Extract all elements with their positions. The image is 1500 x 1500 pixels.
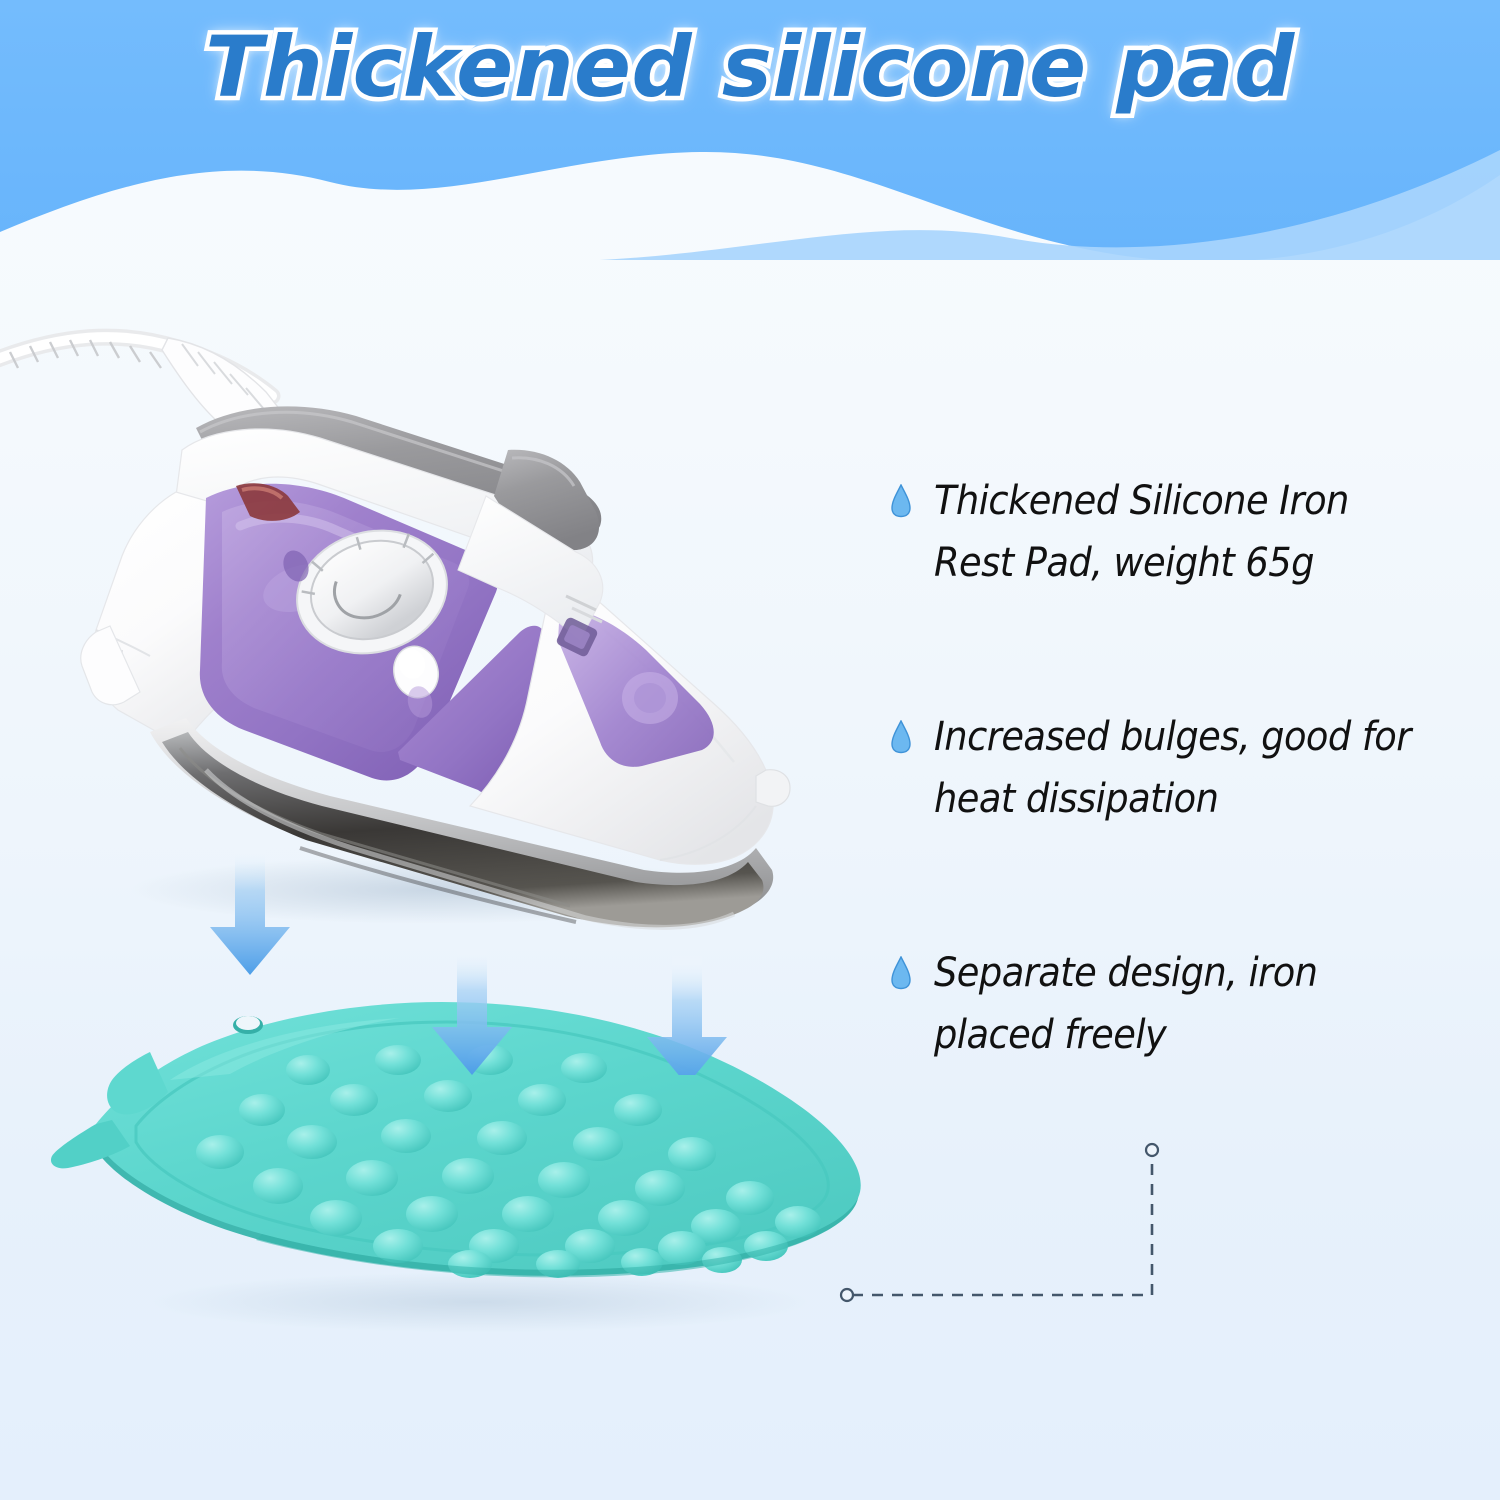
header-banner: Thickened silicone pad — [0, 0, 1500, 260]
iron-drop-icon — [890, 484, 912, 518]
callout-endpoint — [841, 1289, 853, 1301]
page-title: Thickened silicone pad — [205, 18, 1295, 116]
transfer-arrows — [180, 845, 740, 1075]
title-container: Thickened silicone pad — [0, 18, 1500, 116]
feature-item: Separate design, iron placed freely — [890, 942, 1480, 1066]
feature-item: Increased bulges, good for heat dissipat… — [890, 706, 1480, 830]
arrow-group — [180, 845, 740, 1075]
nose-tab — [756, 770, 790, 807]
steam-iron-illustration — [0, 300, 860, 940]
down-arrow — [647, 955, 727, 1075]
feature-text: Increased bulges, good for heat dissipat… — [934, 706, 1435, 830]
steam-iron-image — [0, 300, 860, 940]
callout-endpoint — [1146, 1144, 1158, 1156]
dimension-callout — [830, 1130, 1210, 1320]
callout-bracket — [830, 1130, 1210, 1320]
iron-drop-icon — [890, 720, 912, 754]
iron-drop-icon — [890, 956, 912, 990]
pad-shadow — [150, 1272, 810, 1332]
down-arrow — [210, 845, 290, 975]
feature-list: Thickened Silicone Iron Rest Pad, weight… — [890, 470, 1480, 1066]
down-arrow — [432, 945, 512, 1075]
feature-text: Separate design, iron placed freely — [934, 942, 1435, 1066]
product-infographic: Thickened silicone pad — [0, 0, 1500, 1500]
feature-text: Thickened Silicone Iron Rest Pad, weight… — [934, 470, 1435, 594]
feature-item: Thickened Silicone Iron Rest Pad, weight… — [890, 470, 1480, 594]
